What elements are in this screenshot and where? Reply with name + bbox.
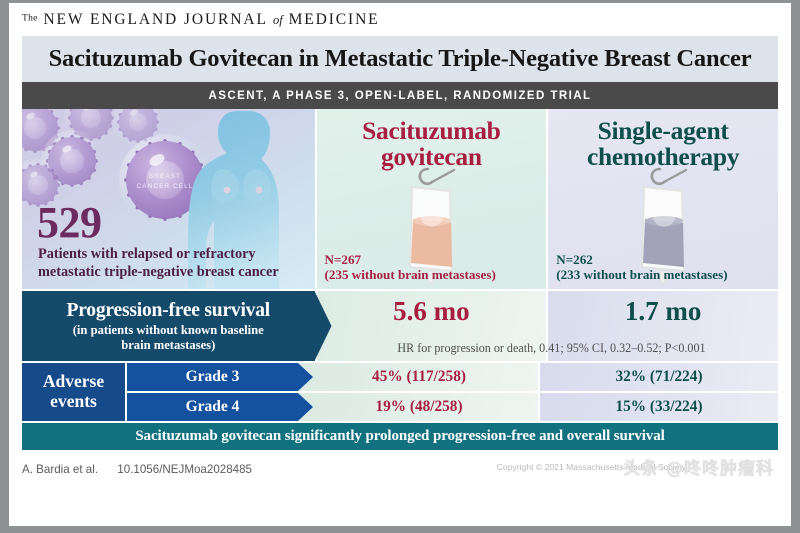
ae-label-line2: events bbox=[50, 392, 97, 412]
conclusion-text: Sacituzumab govitecan significantly prol… bbox=[135, 428, 664, 445]
title-bar: Sacituzumab Govitecan in Metastatic Trip… bbox=[22, 36, 778, 82]
pfs-value-text: 5.6 mo bbox=[393, 291, 470, 327]
arm-title-chemotherapy: Single-agent chemotherapy bbox=[548, 109, 778, 170]
arm-title-line1: Single-agent bbox=[598, 116, 729, 145]
arm-title-sacituzumab: Sacituzumab govitecan bbox=[317, 109, 547, 170]
arm-n-label: N=267 bbox=[325, 252, 496, 268]
journal-name-part2: MEDICINE bbox=[289, 11, 380, 28]
cell-nucleus bbox=[28, 175, 47, 194]
arm-title-line2: govitecan bbox=[381, 142, 482, 171]
pfs-label-title: Progression-free survival bbox=[66, 300, 270, 322]
journal-name-part1: NEW ENGLAND JOURNAL bbox=[43, 11, 267, 28]
conclusion-banner: Sacituzumab govitecan significantly prol… bbox=[22, 423, 778, 450]
patient-panel: BREAST CANCER CELL 52 bbox=[22, 109, 315, 289]
arm-n-detail: (235 without brain metastases) bbox=[325, 267, 496, 283]
infographic-page: The NEW ENGLAND JOURNAL of MEDICINE Saci… bbox=[0, 0, 800, 533]
table-row: Grade 4 19% (48/258) 15% (33/224) bbox=[125, 393, 778, 421]
footer: A. Bardia et al. 10.1056/NEJMoa2028485 C… bbox=[22, 450, 778, 488]
arm-n-chemotherapy: N=262 (233 without brain metastases) bbox=[556, 252, 727, 283]
journal-the: The bbox=[22, 13, 38, 23]
arm-n-label: N=262 bbox=[556, 252, 727, 268]
watermark: 头条 @咚咚肿瘤科 bbox=[623, 454, 774, 479]
pfs-statistic: HR for progression or death, 0.41; 95% C… bbox=[325, 341, 778, 356]
cell-nucleus bbox=[24, 117, 46, 139]
ae-value-chemotherapy: 15% (33/224) bbox=[538, 393, 778, 421]
patient-count: 529 bbox=[37, 201, 102, 245]
pfs-value-text: 1.7 mo bbox=[625, 291, 702, 327]
arm-column-sacituzumab: Sacituzumab govitecan N=267 (235 without… bbox=[315, 109, 547, 289]
table-row: Grade 3 45% (117/258) 32% (71/224) bbox=[125, 363, 778, 391]
grade-label-text: Grade 4 bbox=[186, 398, 240, 416]
patient-caption: Patients with relapsed or refractory met… bbox=[38, 245, 315, 281]
ae-value-sacituzumab: 45% (117/258) bbox=[298, 363, 538, 391]
citation-doi[interactable]: 10.1056/NEJMoa2028485 bbox=[117, 463, 252, 476]
adverse-events-label: Adverse events bbox=[22, 363, 125, 421]
adverse-events-section: Adverse events Grade 3 45% (117/258) 32%… bbox=[22, 363, 778, 421]
ae-value-chemotherapy: 32% (71/224) bbox=[538, 363, 778, 391]
pfs-section: Progression-free survival (in patients w… bbox=[22, 291, 778, 361]
page-title: Sacituzumab Govitecan in Metastatic Trip… bbox=[49, 45, 752, 73]
journal-name: The NEW ENGLAND JOURNAL of MEDICINE bbox=[22, 11, 380, 29]
citation-authors: A. Bardia et al. bbox=[22, 463, 98, 476]
arm-column-chemotherapy: Single-agent chemotherapy N=262 (233 wit… bbox=[546, 109, 778, 289]
citation: A. Bardia et al. 10.1056/NEJMoa2028485 bbox=[22, 463, 252, 476]
trial-subtitle: ASCENT, A PHASE 3, OPEN-LABEL, RANDOMIZE… bbox=[209, 90, 592, 102]
pfs-sub-line1: (in patients without known baseline bbox=[73, 323, 264, 337]
ae-value-sacituzumab: 19% (48/258) bbox=[298, 393, 538, 421]
pfs-label-sub: (in patients without known baseline brai… bbox=[73, 323, 264, 353]
pfs-sub-line2: brain metastases) bbox=[121, 338, 215, 352]
arm-n-detail: (233 without brain metastases) bbox=[556, 267, 727, 283]
arm-title-line1: Sacituzumab bbox=[362, 116, 500, 145]
journal-of: of bbox=[273, 13, 283, 27]
grade-label-text: Grade 3 bbox=[186, 368, 240, 386]
journal-masthead: The NEW ENGLAND JOURNAL of MEDICINE bbox=[9, 3, 791, 36]
pfs-label: Progression-free survival (in patients w… bbox=[22, 291, 315, 361]
infographic-inner: The NEW ENGLAND JOURNAL of MEDICINE Saci… bbox=[9, 3, 791, 526]
grade-label: Grade 4 bbox=[127, 393, 298, 421]
arm-title-line2: chemotherapy bbox=[587, 142, 739, 171]
adverse-events-rows: Grade 3 45% (117/258) 32% (71/224) Grade… bbox=[125, 363, 778, 421]
subtitle-bar: ASCENT, A PHASE 3, OPEN-LABEL, RANDOMIZE… bbox=[22, 82, 778, 109]
grade-label: Grade 3 bbox=[127, 363, 298, 391]
arm-n-sacituzumab: N=267 (235 without brain metastases) bbox=[325, 252, 496, 283]
ae-label-line1: Adverse bbox=[43, 372, 104, 392]
hero-section: BREAST CANCER CELL 52 bbox=[22, 109, 778, 289]
